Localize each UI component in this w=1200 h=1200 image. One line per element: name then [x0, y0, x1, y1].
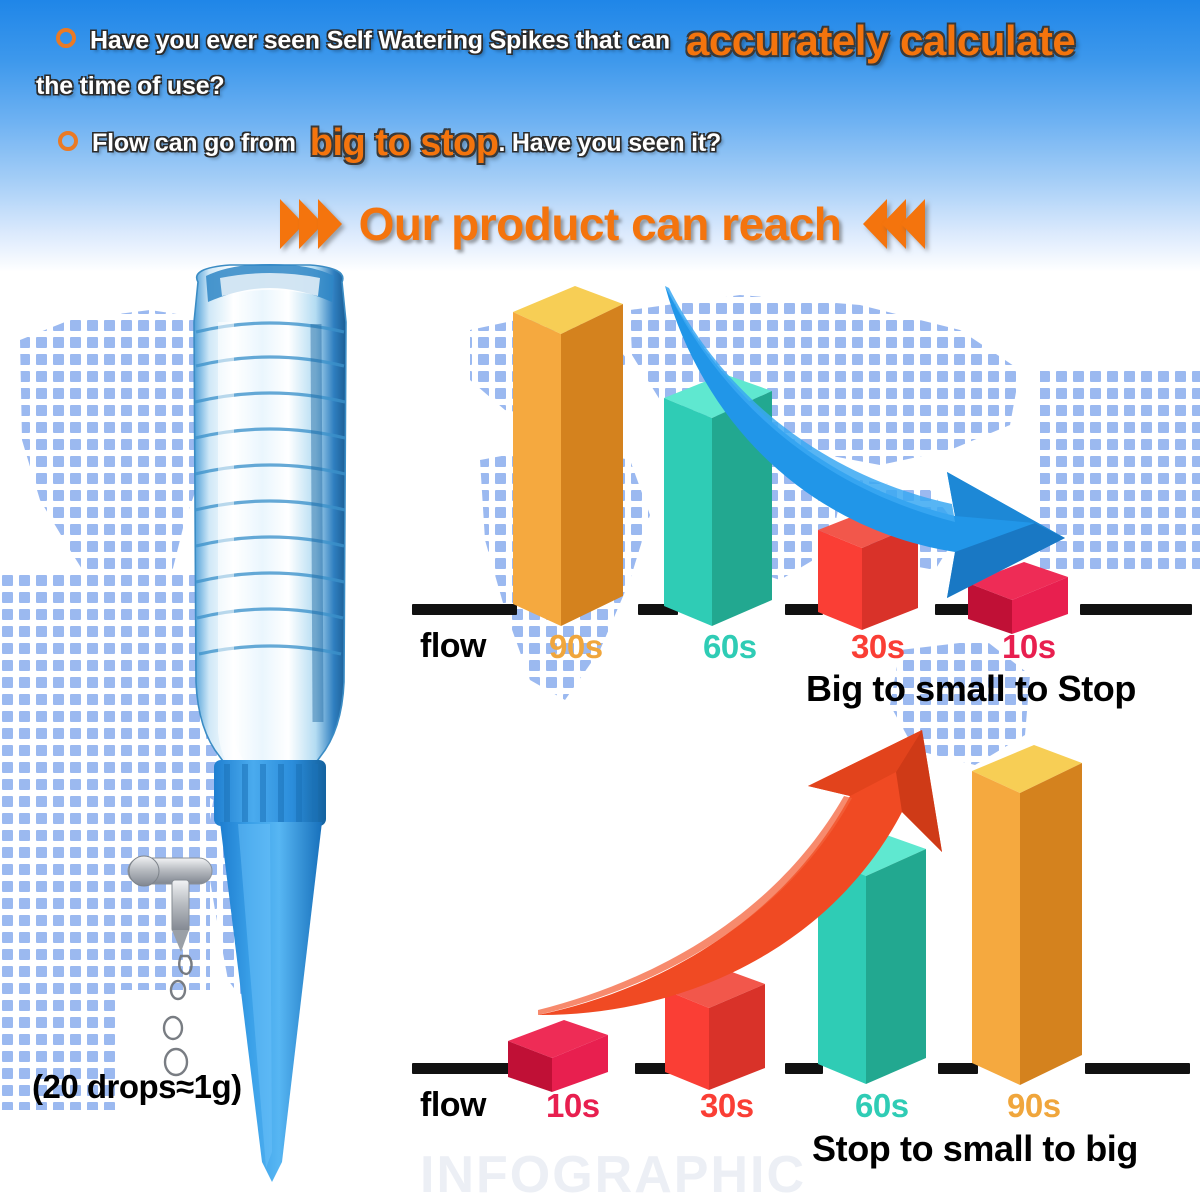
bottom-chart-axis-label: flow — [420, 1086, 486, 1125]
bottom-chart: flow 10s 30s 60s 90s Stop to small to bi… — [0, 0, 1200, 1200]
bar-90s-bottom — [972, 745, 1102, 1090]
axis-line-segment — [412, 1063, 512, 1074]
bottom-chart-label-0: 10s — [546, 1087, 600, 1125]
ascending-red-arrow — [530, 730, 970, 1035]
bottom-chart-caption: Stop to small to big — [812, 1128, 1138, 1170]
bottom-chart-label-1: 30s — [700, 1087, 754, 1125]
infographic-page: INFOGRAPHIC Have you ever seen Self Wate… — [0, 0, 1200, 1200]
bottom-chart-label-3: 90s — [1007, 1087, 1061, 1125]
bottom-chart-label-2: 60s — [855, 1087, 909, 1125]
